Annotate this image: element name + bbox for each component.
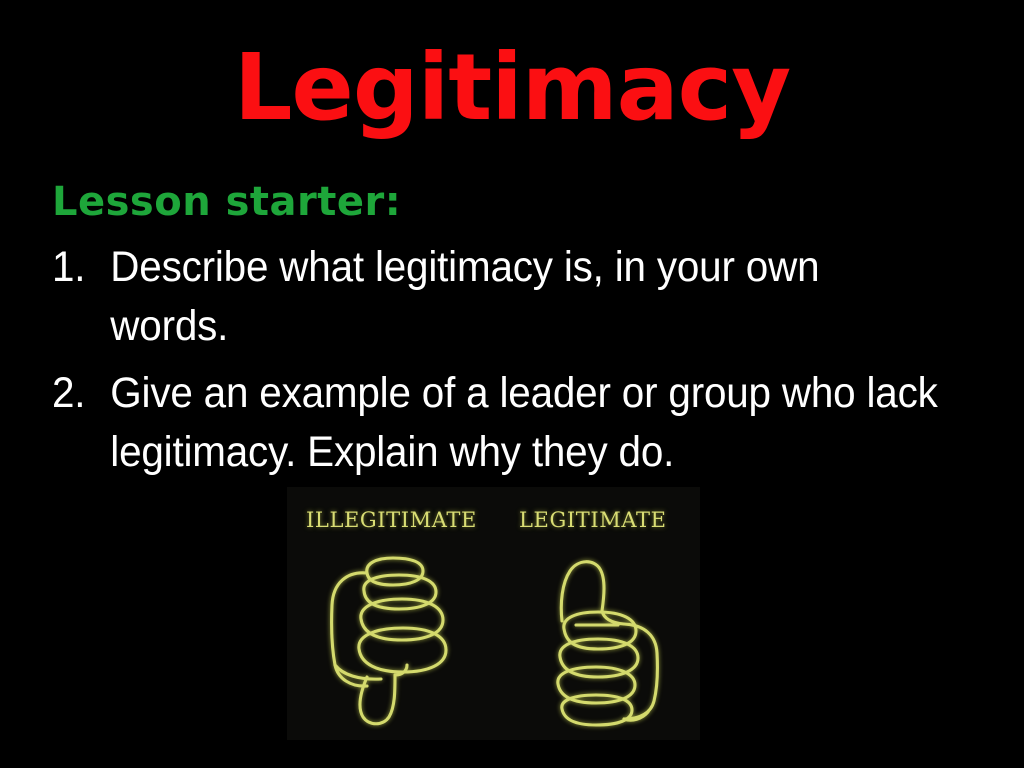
presentation-slide: Legitimacy Lesson starter: 1. Describe w… xyxy=(0,0,1024,768)
thumbs-illustration-panel: ILLEGITIMATE LEGITIMATE xyxy=(287,487,700,740)
slide-title: Legitimacy xyxy=(0,36,1024,140)
question-number-2: 2. xyxy=(52,364,95,423)
thumbs-up-icon xyxy=(512,549,692,729)
question-text-2: Give an example of a leader or group who… xyxy=(110,364,945,482)
legitimate-label: LEGITIMATE xyxy=(519,508,667,532)
question-item-1: 1. Describe what legitimacy is, in your … xyxy=(52,238,945,356)
question-list: 1. Describe what legitimacy is, in your … xyxy=(52,238,1002,482)
lesson-starter-heading: Lesson starter: xyxy=(52,178,1002,226)
question-item-2: 2. Give an example of a leader or group … xyxy=(52,364,945,482)
illegitimate-label: ILLEGITIMATE xyxy=(306,508,477,532)
question-text-1: Describe what legitimacy is, in your own… xyxy=(110,238,945,356)
question-number-1: 1. xyxy=(52,238,95,297)
slide-body: Lesson starter: 1. Describe what legitim… xyxy=(52,178,1002,490)
thumbs-down-icon xyxy=(307,549,487,729)
